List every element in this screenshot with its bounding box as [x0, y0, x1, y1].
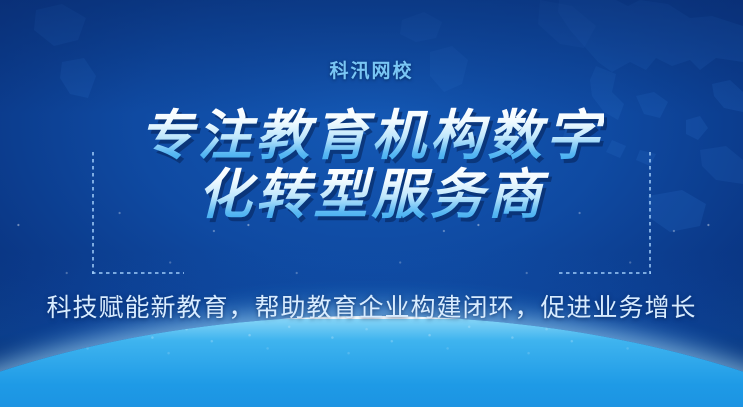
headline: 专注教育机构数字 化转型服务商: [140, 107, 604, 225]
headline-line-2: 化转型服务商: [140, 166, 604, 225]
brand-name: 科汛网校: [329, 62, 413, 81]
banner-content: 科汛网校 专注教育机构数字 化转型服务商 科技赋能新教育，帮助教育企业构建闭环，…: [0, 0, 743, 407]
headline-line-1: 专注教育机构数字: [140, 107, 604, 166]
subtitle: 科技赋能新教育，帮助教育企业构建闭环，促进业务增长: [0, 288, 743, 324]
hero-banner: 科汛网校 专注教育机构数字 化转型服务商 科技赋能新教育，帮助教育企业构建闭环，…: [0, 0, 743, 407]
